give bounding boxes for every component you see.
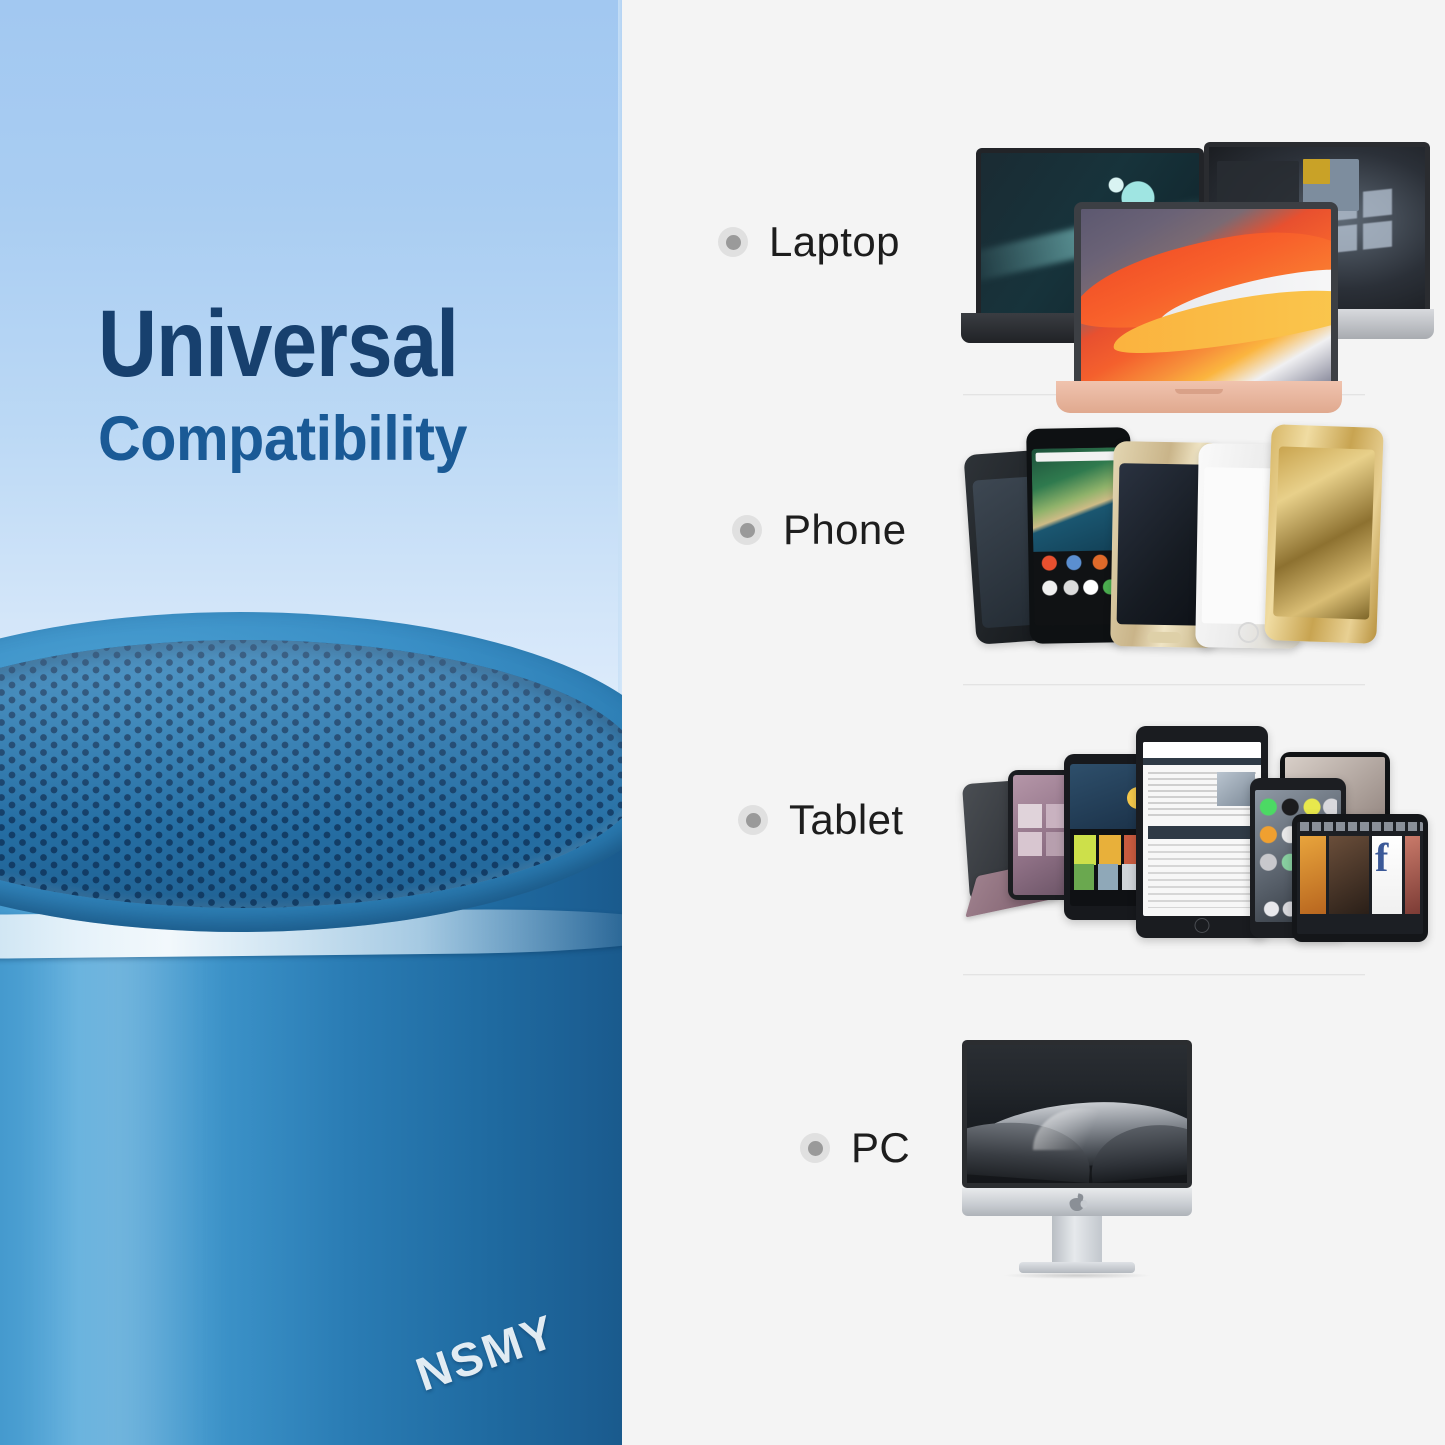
imac-shadow [1002,1272,1152,1279]
laptop-macbook-air [1074,202,1324,381]
list-item-phone[interactable]: Phone [732,506,906,554]
pc-device-group [962,1040,1192,1282]
label-laptop: Laptop [769,218,900,266]
page-title: Universal Compatibility [98,298,568,471]
infographic-canvas: Universal Compatibility NSMY Laptop [0,0,1445,1445]
tablet-device-group: f [962,718,1412,950]
phone-gold-phablet [1264,424,1383,644]
apple-logo-icon [1070,1194,1085,1211]
imac-stand-neck [1052,1216,1102,1264]
list-item-laptop[interactable]: Laptop [718,218,900,266]
radio-bullet-icon [718,227,748,257]
radio-bullet-icon [732,515,762,545]
phone-device-group [962,418,1392,654]
radio-bullet-icon [800,1133,830,1163]
headline-line-2: Compatibility [98,407,540,471]
product-speaker-image [0,612,690,1445]
divider-2 [963,684,1365,685]
divider-3 [963,974,1365,975]
label-phone: Phone [783,506,906,554]
laptop-device-group [962,118,1422,370]
label-tablet: Tablet [789,796,903,844]
tablet-ipad-webpage [1136,726,1268,938]
headline-line-1: Universal [98,298,502,391]
list-item-tablet[interactable]: Tablet [738,796,903,844]
list-item-pc[interactable]: PC [800,1124,910,1172]
label-pc: PC [851,1124,910,1172]
radio-bullet-icon [738,805,768,835]
tablet-kindle-fire: f [1292,814,1428,942]
device-list-panel: Laptop Phone [622,0,1445,1445]
imac-display [962,1040,1192,1188]
